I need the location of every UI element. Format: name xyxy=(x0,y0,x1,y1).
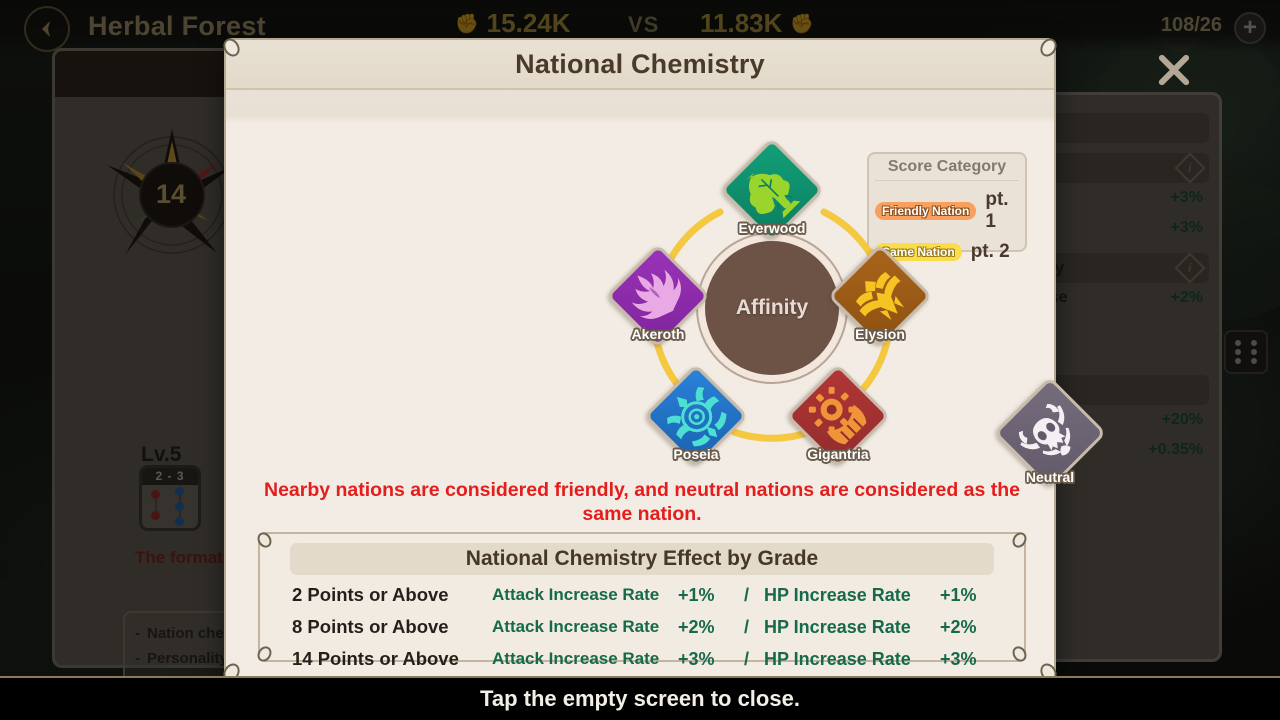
chemistry-description: Nearby nations are considered friendly, … xyxy=(262,478,1022,526)
nation-akeroth[interactable]: Akeroth xyxy=(610,248,706,344)
same-nation-points: pt. 2 xyxy=(971,241,1010,263)
nation-name: Gigantria xyxy=(807,446,868,462)
nation-everwood[interactable]: Everwood xyxy=(724,142,820,238)
effect-atk-value: +3% xyxy=(678,649,744,670)
effect-hp-value: +3% xyxy=(940,649,977,670)
nation-gigantria[interactable]: Gigantria xyxy=(790,368,886,464)
effect-atk-label: Attack Increase Rate xyxy=(492,585,678,605)
nation-elysion[interactable]: Elysion xyxy=(832,248,928,344)
effect-hp-value: +1% xyxy=(940,585,977,606)
nation-neutral[interactable]: Neutral xyxy=(998,383,1102,487)
effect-atk-label: Attack Increase Rate xyxy=(492,617,678,637)
effect-table-panel: National Chemistry Effect by Grade 2 Poi… xyxy=(258,532,1026,662)
affinity-center: Affinity xyxy=(698,234,846,382)
effect-hp-value: +2% xyxy=(940,617,977,638)
corner-ornament-icon xyxy=(1010,530,1030,550)
effect-separator: / xyxy=(744,649,764,670)
close-icon xyxy=(1152,48,1196,92)
effect-row: 8 Points or Above Attack Increase Rate +… xyxy=(260,611,1024,643)
national-chemistry-dialog: National Chemistry Score Category Friend… xyxy=(224,38,1056,680)
nation-name: Neutral xyxy=(1026,469,1074,485)
effect-row: 14 Points or Above Attack Increase Rate … xyxy=(260,643,1024,675)
bottom-hint-bar: Tap the empty screen to close. xyxy=(0,676,1280,720)
effect-grade: 8 Points or Above xyxy=(292,616,492,638)
affinity-label: Affinity xyxy=(736,296,808,320)
effect-table-title-bar: National Chemistry Effect by Grade xyxy=(290,543,994,575)
dialog-body: Score Category Friendly Nation pt. 1 Sam… xyxy=(226,90,1054,680)
effect-row: 2 Points or Above Attack Increase Rate +… xyxy=(260,579,1024,611)
effect-grade: 14 Points or Above xyxy=(292,648,492,670)
friendly-nation-points: pt. 1 xyxy=(985,189,1019,233)
close-button[interactable] xyxy=(1146,42,1202,98)
effect-hp-label: HP Increase Rate xyxy=(764,649,940,670)
dialog-title: National Chemistry xyxy=(515,49,765,80)
effect-separator: / xyxy=(744,617,764,638)
nation-name: Poseia xyxy=(673,446,718,462)
effect-hp-label: HP Increase Rate xyxy=(764,585,940,606)
bottom-hint-text: Tap the empty screen to close. xyxy=(480,686,800,712)
effect-atk-value: +2% xyxy=(678,617,744,638)
effect-separator: / xyxy=(744,585,764,606)
nation-name: Akeroth xyxy=(632,326,685,342)
corner-ornament-icon xyxy=(255,530,275,550)
effect-table-title: National Chemistry Effect by Grade xyxy=(466,547,818,571)
effect-hp-label: HP Increase Rate xyxy=(764,617,940,638)
dialog-titlebar: National Chemistry xyxy=(226,40,1054,90)
effect-atk-value: +1% xyxy=(678,585,744,606)
affinity-wheel: Affinity Everwood xyxy=(592,142,952,472)
effect-grade: 2 Points or Above xyxy=(292,584,492,606)
nation-name: Everwood xyxy=(739,220,806,236)
nation-poseia[interactable]: Poseia xyxy=(648,368,744,464)
nation-name: Elysion xyxy=(855,326,905,342)
effect-atk-label: Attack Increase Rate xyxy=(492,649,678,669)
game-screen: Herbal Forest ✊ 15.24K VS 11.83K ✊ 108/2… xyxy=(0,0,1280,720)
